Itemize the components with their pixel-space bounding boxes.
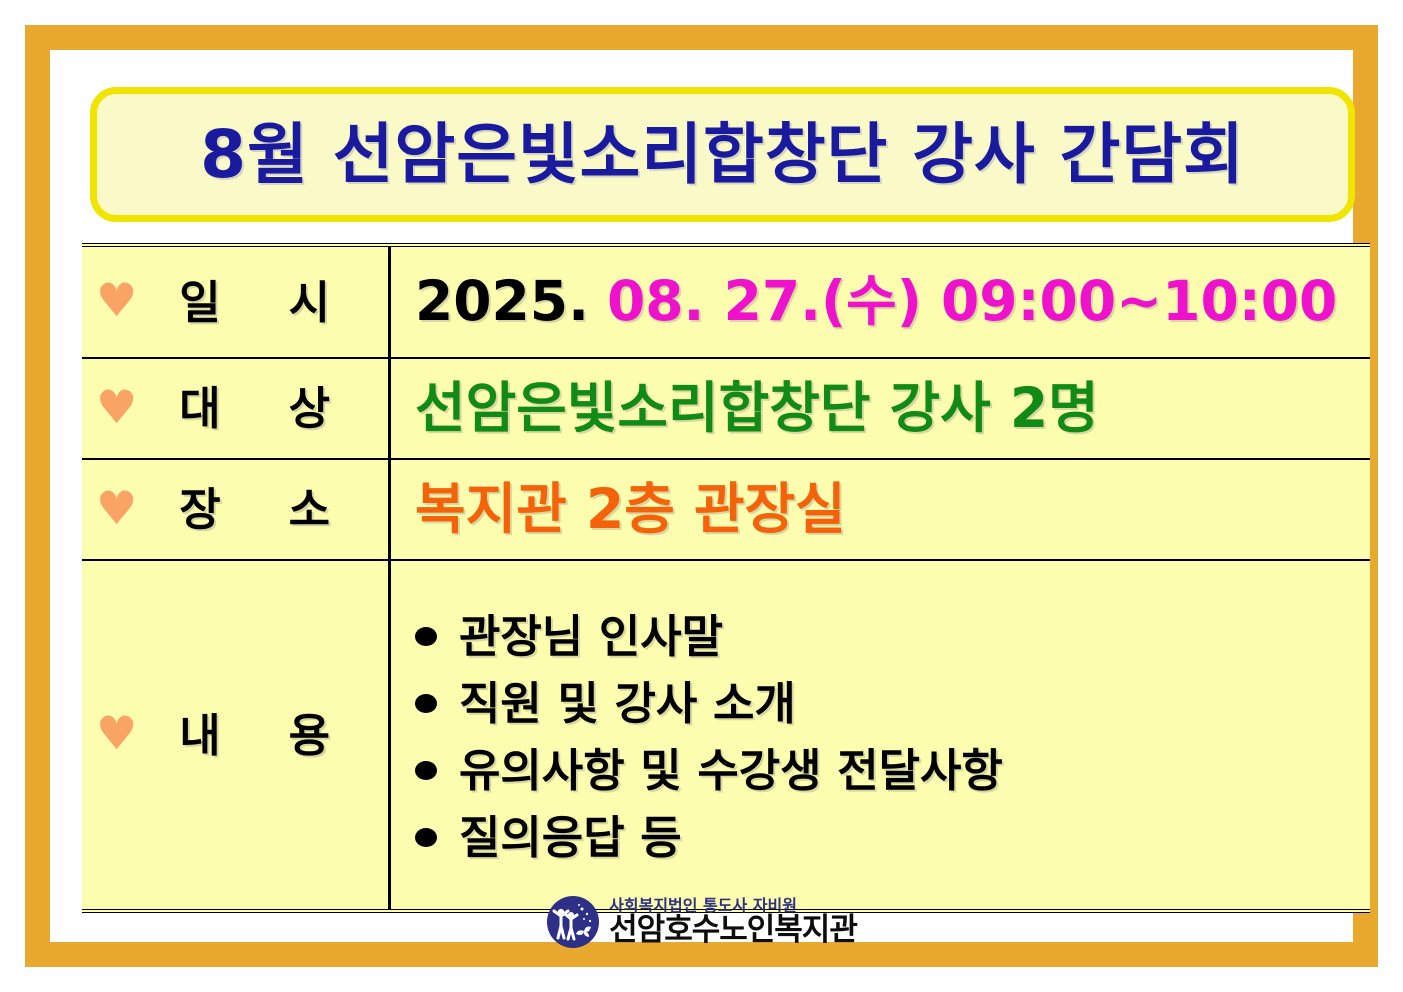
- table-row-place: ♥ 장 소 복지관 2층 관장실: [82, 460, 1370, 561]
- orange-frame-border: 8월 선암은빛소리합창단 강사 간담회 ♥ 일 시 2025. 0: [25, 25, 1378, 967]
- logo-text-block: 사회복지법인 통도사 자비원 선암호수노인복지관: [609, 898, 857, 947]
- row-value-audience: 선암은빛소리합창단 강사 2명: [391, 359, 1370, 458]
- page-title: 8월 선암은빛소리합창단 강사 간담회: [200, 122, 1245, 188]
- list-item: 질의응답 등: [415, 815, 1003, 860]
- list-item-label: 질의응답 등: [459, 815, 682, 860]
- heart-icon: ♥: [96, 384, 137, 430]
- organization-emblem-icon: [546, 895, 600, 949]
- heart-icon: ♥: [96, 710, 137, 756]
- row-label-audience: ♥ 대 상: [82, 359, 391, 458]
- heart-icon: ♥: [96, 485, 137, 531]
- bullet-dot-icon: [415, 694, 437, 713]
- row-label-text-datetime: 일 시: [145, 280, 388, 325]
- table-row-contents: ♥ 내 용 관장님 인사말: [82, 561, 1370, 909]
- bullet-dot-icon: [415, 761, 437, 780]
- label-char-1: 장: [179, 487, 220, 532]
- logo-lockup: 사회복지법인 통도사 자비원 선암호수노인복지관: [546, 895, 857, 949]
- logo-title: 선암호수노인복지관: [609, 915, 857, 946]
- row-label-text-audience: 대 상: [145, 386, 388, 431]
- list-item: 직원 및 강사 소개: [415, 681, 1003, 726]
- datetime-date-time-part: 08. 27.(수) 09:00~10:00: [607, 273, 1337, 331]
- bullet-dot-icon: [415, 828, 437, 847]
- datetime-year-part: 2025.: [415, 273, 589, 331]
- label-char-1: 내: [179, 713, 220, 758]
- label-char-2: 상: [289, 386, 330, 431]
- list-item: 유의사항 및 수강생 전달사항: [415, 748, 1003, 793]
- bullet-dot-icon: [415, 627, 437, 646]
- row-label-contents: ♥ 내 용: [82, 561, 391, 909]
- poster-root: 8월 선암은빛소리합창단 강사 간담회 ♥ 일 시 2025. 0: [0, 0, 1403, 992]
- label-char-1: 대: [179, 386, 220, 431]
- label-char-2: 시: [289, 280, 330, 325]
- list-item-label: 직원 및 강사 소개: [459, 681, 796, 726]
- row-label-place: ♥ 장 소: [82, 460, 391, 559]
- row-label-datetime: ♥ 일 시: [82, 247, 391, 357]
- label-char-2: 용: [289, 713, 330, 758]
- audience-text: 선암은빛소리합창단 강사 2명: [415, 380, 1099, 438]
- row-label-text-place: 장 소: [145, 487, 388, 532]
- label-char-2: 소: [289, 487, 330, 532]
- row-label-text-contents: 내 용: [145, 713, 388, 758]
- list-item-label: 유의사항 및 수강생 전달사항: [459, 748, 1003, 793]
- footer-logo: 사회복지법인 통도사 자비원 선암호수노인복지관: [50, 895, 1353, 949]
- label-char-1: 일: [179, 280, 220, 325]
- row-value-place: 복지관 2층 관장실: [391, 460, 1370, 559]
- table-row-datetime: ♥ 일 시 2025. 08. 27.(수) 09:00~10:00: [82, 247, 1370, 359]
- row-value-datetime: 2025. 08. 27.(수) 09:00~10:00: [391, 247, 1370, 357]
- list-item: 관장님 인사말: [415, 614, 1003, 659]
- contents-bullet-list: 관장님 인사말 직원 및 강사 소개 유의사항 및 수강생 전달사항: [415, 610, 1003, 860]
- table-row-audience: ♥ 대 상 선암은빛소리합창단 강사 2명: [82, 359, 1370, 460]
- place-text: 복지관 2층 관장실: [415, 481, 846, 539]
- poster-inner-area: 8월 선암은빛소리합창단 강사 간담회 ♥ 일 시 2025. 0: [50, 50, 1353, 942]
- row-value-contents: 관장님 인사말 직원 및 강사 소개 유의사항 및 수강생 전달사항: [391, 561, 1370, 909]
- heart-icon: ♥: [96, 277, 137, 323]
- info-table: ♥ 일 시 2025. 08. 27.(수) 09:00~10:00 ♥: [82, 243, 1370, 913]
- title-banner: 8월 선암은빛소리합창단 강사 간담회: [90, 87, 1355, 222]
- list-item-label: 관장님 인사말: [459, 614, 723, 659]
